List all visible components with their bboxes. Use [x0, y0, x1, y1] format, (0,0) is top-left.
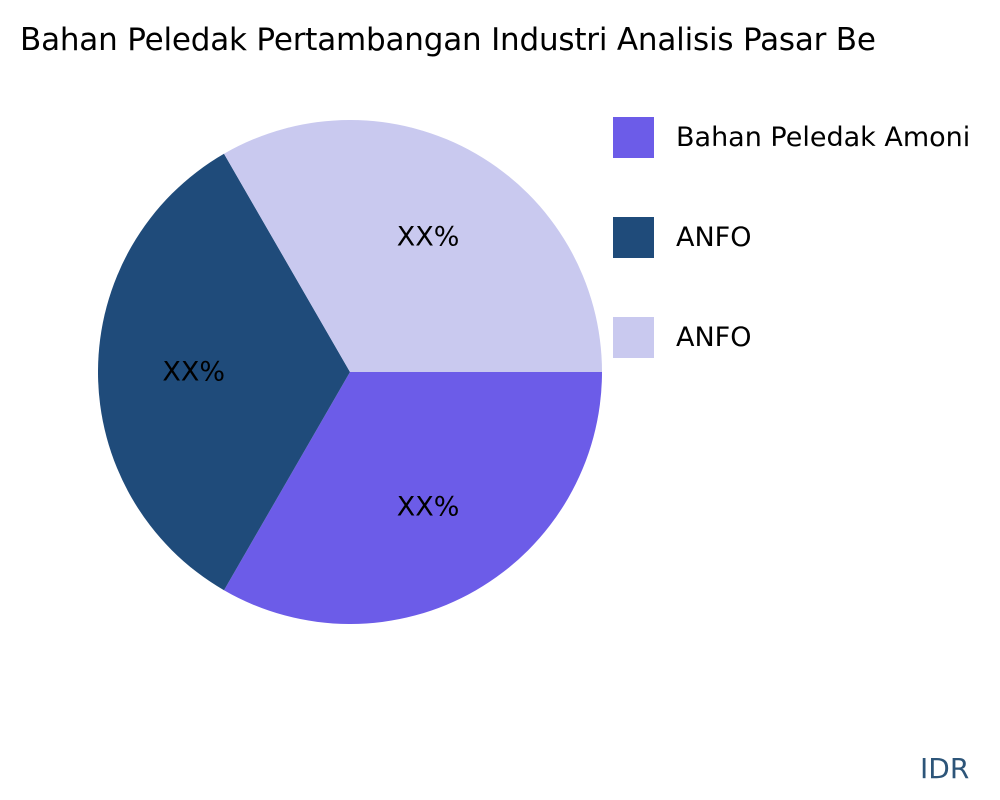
page-title: Bahan Peledak Pertambangan Industri Anal…: [20, 20, 1000, 60]
legend-label: Bahan Peledak Amoni: [676, 120, 970, 156]
slice-label-1: XX%: [397, 492, 460, 523]
legend-item-2[interactable]: ANFO: [613, 317, 1000, 417]
slice-label-3: XX%: [397, 221, 460, 252]
legend-swatch-icon: [613, 117, 654, 158]
pie-chart: XX% XX% XX%: [98, 120, 602, 624]
legend-item-1[interactable]: ANFO: [613, 217, 1000, 317]
legend-swatch-icon: [613, 217, 654, 258]
legend-item-0[interactable]: Bahan Peledak Amoni: [613, 117, 1000, 217]
legend-swatch-icon: [613, 317, 654, 358]
chart-canvas: Bahan Peledak Pertambangan Industri Anal…: [0, 0, 1000, 800]
legend: Bahan Peledak Amoni ANFO ANFO: [613, 117, 1000, 417]
legend-label: ANFO: [676, 320, 751, 356]
currency-note: IDR: [920, 752, 969, 786]
slice-label-2: XX%: [162, 357, 225, 388]
legend-label: ANFO: [676, 220, 751, 256]
